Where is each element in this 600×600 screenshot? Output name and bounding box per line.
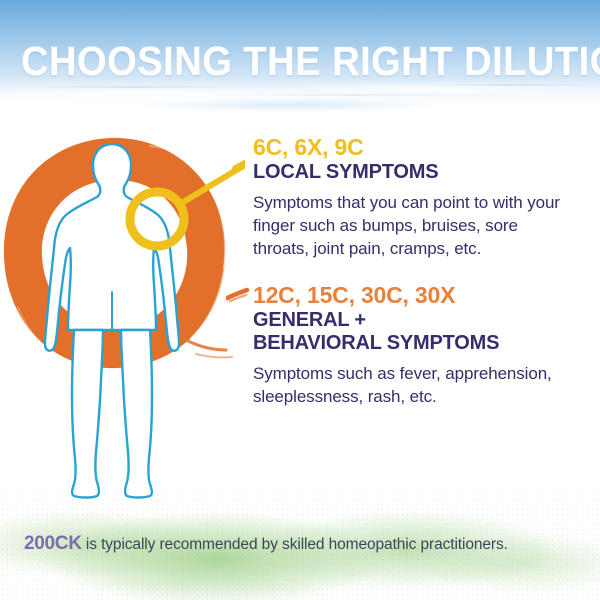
dilution-block-general: 12C, 15C, 30C, 30X GENERAL + BEHAVIORAL … [253,282,593,408]
dilution-block-local: 6C, 6X, 9C LOCAL SYMPTOMS Symptoms that … [253,134,593,260]
body-general-symptoms: Symptoms such as fever, apprehension, sl… [253,362,573,408]
dilution-blocks: 6C, 6X, 9C LOCAL SYMPTOMS Symptoms that … [253,134,593,408]
kicker-general-line2: BEHAVIORAL SYMPTOMS [253,332,499,354]
footer-note: 200CK is typically recommended by skille… [24,534,584,555]
orange-brush-dash-icon [226,287,250,303]
dose-general-label: 12C, 15C, 30C, 30X [253,282,593,308]
footer-dilution-label: 200CK [24,533,82,554]
kicker-local-symptoms: LOCAL SYMPTOMS [253,161,593,184]
kicker-general-line1: GENERAL + [253,309,366,331]
page-title: CHOOSING THE RIGHT DILUTION [21,38,579,84]
dose-local-label: 6C, 6X, 9C [253,134,593,160]
body-local-symptoms: Symptoms that you can point to with your… [253,191,573,260]
infographic-root: CHOOSING THE RIGHT DILUTION [0,0,600,600]
footer-note-text: is typically recommended by skilled home… [82,536,508,553]
body-illustration [0,122,245,522]
header-watercolor-fade [0,78,600,126]
kicker-general-symptoms: GENERAL + BEHAVIORAL SYMPTOMS [253,309,593,355]
